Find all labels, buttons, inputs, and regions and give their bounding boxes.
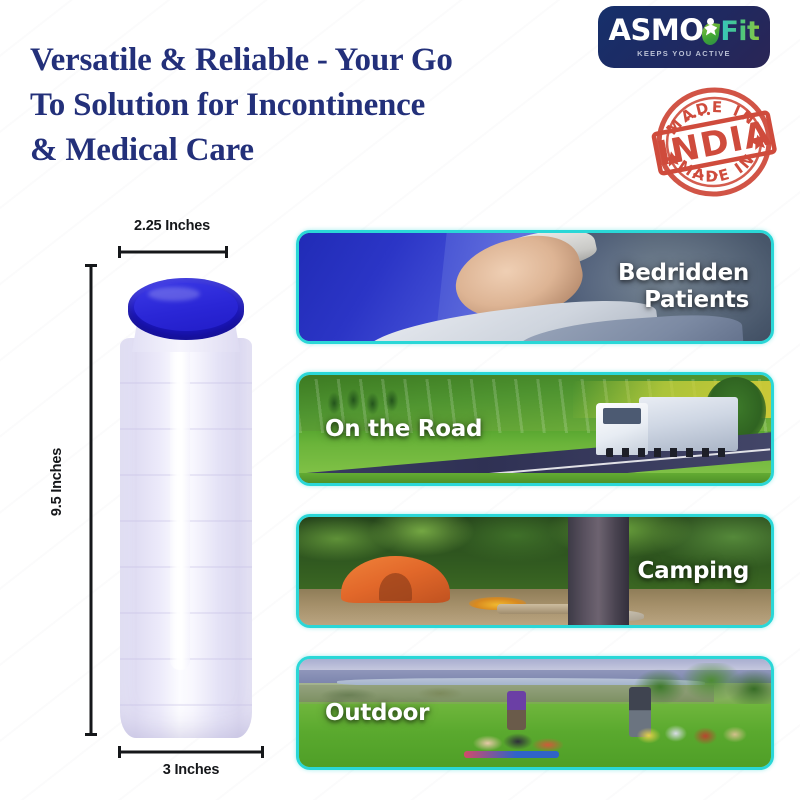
page-title: Versatile & Reliable - Your Go To Soluti…: [30, 38, 590, 173]
use-case-card-on-the-road: On the Road: [296, 372, 774, 486]
bottle-center-ridge: [170, 340, 190, 670]
leaf-figure-icon: [701, 18, 720, 45]
use-case-card-bedridden-patients: Bedridden Patients: [296, 230, 774, 344]
brand-name-secondary: Fit: [720, 18, 759, 45]
dimension-line-top: [118, 246, 228, 258]
dimension-label-width-bottom: 3 Inches: [121, 762, 261, 778]
use-case-label: Outdoor: [325, 659, 429, 767]
use-case-label: Bedridden Patients: [618, 233, 749, 341]
product-dimension-panel: 2.25 Inches 9.5 Inches 3 Inches: [30, 218, 292, 788]
brand-logo: ASMO Fit KEEPS YOU ACTIVE: [598, 6, 770, 68]
use-case-label: Camping: [638, 517, 749, 625]
use-case-label: On the Road: [325, 375, 482, 483]
brand-logo-inner: ASMO Fit KEEPS YOU ACTIVE: [598, 6, 770, 68]
use-case-card-camping: Camping: [296, 514, 774, 628]
dimension-label-height-left: 9.5 Inches: [49, 422, 65, 542]
bottle-cap-highlight: [148, 287, 200, 301]
dimension-line-bottom: [118, 746, 264, 758]
headline-line-3: & Medical Care: [30, 128, 590, 173]
brand-name-primary: ASMO: [609, 16, 704, 45]
made-in-india-stamp-icon: INDIA MADE IN MADE IN: [643, 76, 784, 209]
use-case-card-list: Bedridden Patients On the Road: [296, 230, 774, 780]
dimension-line-left: [85, 264, 97, 736]
product-image-urinal-bottle: [108, 270, 264, 740]
use-case-card-outdoor: Outdoor: [296, 656, 774, 770]
brand-logo-wordmark: ASMO Fit: [609, 16, 760, 46]
dimension-label-width-top: 2.25 Inches: [102, 218, 242, 234]
headline-line-1: Versatile & Reliable - Your Go: [30, 38, 590, 83]
brand-tagline: KEEPS YOU ACTIVE: [637, 49, 731, 58]
headline-line-2: To Solution for Incontinence: [30, 83, 590, 128]
product-infographic: Versatile & Reliable - Your Go To Soluti…: [0, 0, 800, 800]
